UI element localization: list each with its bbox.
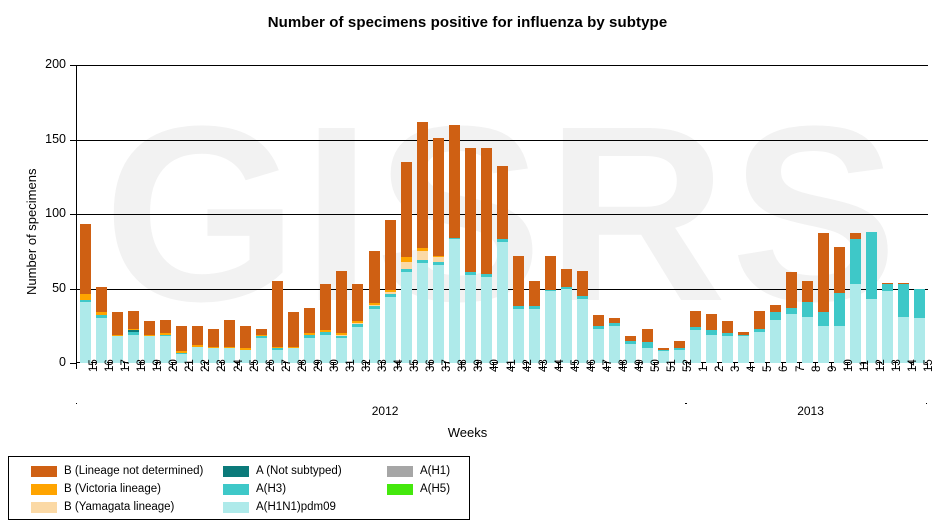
x-tick-label: 38 [457, 359, 469, 372]
bar-segment [385, 220, 396, 290]
bar-column[interactable] [754, 311, 765, 363]
bar-segment [593, 315, 604, 325]
x-tick-label: 15 [88, 359, 100, 372]
bar-segment [160, 320, 171, 333]
bar-segment [240, 326, 251, 348]
bar-segment [545, 256, 556, 290]
legend-item-a-not-subtyped[interactable]: A (Not subtyped) [223, 463, 342, 480]
x-tick-label: 3 [730, 366, 742, 372]
x-tick-label: 1 [698, 366, 710, 372]
legend-label: A(H5) [420, 484, 450, 496]
bar-segment [513, 309, 524, 363]
x-tick-label: 7 [795, 366, 807, 372]
bar-segment [401, 272, 412, 363]
bar-segment [433, 265, 444, 363]
bar-segment [850, 239, 861, 284]
bar-column[interactable] [786, 272, 797, 363]
y-tick-label: 200 [6, 57, 66, 71]
bar-segment [786, 314, 797, 363]
bar-segment [914, 289, 925, 319]
bar-column[interactable] [465, 148, 476, 363]
x-tick-label: 17 [120, 359, 132, 372]
legend-column-a-subtypes: A(H1)A(H5) [387, 463, 450, 499]
bar-column[interactable] [256, 329, 267, 363]
x-tick-label: 43 [538, 359, 550, 372]
bar-segment [96, 318, 107, 363]
bar-column[interactable] [449, 125, 460, 363]
bar-segment [304, 308, 315, 333]
bar-column[interactable] [433, 138, 444, 363]
bar-column[interactable] [706, 314, 717, 363]
y-tick-label: 150 [6, 132, 66, 146]
bar-column[interactable] [304, 308, 315, 363]
bar-column[interactable] [288, 312, 299, 363]
x-tick-label: 19 [152, 359, 164, 372]
bar-segment [802, 317, 813, 363]
legend-swatch-b-victoria-lineage [31, 484, 57, 495]
bar-segment [320, 284, 331, 330]
bar-segment [738, 336, 749, 363]
x-tick-label: 8 [811, 366, 823, 372]
bar-segment [352, 284, 363, 321]
bar-column[interactable] [818, 233, 829, 363]
bar-segment [834, 293, 845, 326]
bar-column[interactable] [240, 326, 251, 363]
bar-segment [561, 289, 572, 364]
bar-segment [770, 305, 781, 312]
y-tick-label: 100 [6, 206, 66, 220]
bar-segment [722, 336, 733, 363]
x-tick-label: 26 [265, 359, 277, 372]
plot-area: GISRS [76, 65, 927, 363]
bar-segment [593, 329, 604, 363]
x-tick-label: 41 [506, 359, 518, 372]
bar-segment [834, 326, 845, 363]
bar-column[interactable] [690, 311, 701, 363]
bar-column[interactable] [642, 329, 653, 363]
x-tick-label: 51 [666, 359, 678, 372]
bar-segment [80, 224, 91, 294]
bar-column[interactable] [738, 332, 749, 363]
bar-segment [352, 327, 363, 363]
bar-segment [144, 321, 155, 334]
bar-column[interactable] [593, 315, 604, 363]
bar-column[interactable] [320, 284, 331, 363]
bar-segment [417, 122, 428, 249]
bar-column[interactable] [369, 251, 380, 363]
bar-segment [770, 320, 781, 363]
x-tick-label: 36 [425, 359, 437, 372]
legend-label: B (Yamagata lineage) [64, 502, 174, 514]
bar-segment [866, 232, 877, 299]
bar-segment [224, 320, 235, 347]
bar-segment [417, 251, 428, 260]
bar-column[interactable] [802, 281, 813, 363]
bar-segment [722, 321, 733, 333]
bar-segment [433, 138, 444, 256]
legend-swatch-a-h3 [223, 484, 249, 495]
bar-segment [770, 312, 781, 319]
bar-segment [192, 326, 203, 345]
x-tick-label: 32 [361, 359, 373, 372]
bar-column[interactable] [192, 326, 203, 363]
x-tick-label: 16 [104, 359, 116, 372]
year-label: 2012 [76, 404, 694, 418]
bar-column[interactable] [609, 318, 620, 363]
bar-segment [128, 311, 139, 329]
x-tick-label: 23 [216, 359, 228, 372]
x-tick-label: 4 [746, 366, 758, 372]
y-tick-label: 50 [6, 281, 66, 295]
x-tick-label: 39 [473, 359, 485, 372]
legend-column-b-types: B (Lineage not determined)B (Victoria li… [31, 463, 203, 517]
x-tick-label: 20 [168, 359, 180, 372]
bar-column[interactable] [722, 321, 733, 363]
bar-column[interactable] [80, 224, 91, 363]
bar-segment [481, 148, 492, 273]
bar-segment [465, 148, 476, 272]
bar-segment [754, 311, 765, 329]
x-tick-label: 24 [233, 359, 245, 372]
bar-segment [882, 291, 893, 363]
bar-segment [369, 251, 380, 303]
legend-label: A (Not subtyped) [256, 466, 342, 478]
bar-segment [449, 125, 460, 238]
bar-column[interactable] [352, 284, 363, 363]
bar-column[interactable] [497, 166, 508, 363]
x-tick-label: 18 [136, 359, 148, 372]
bar-segment [866, 299, 877, 363]
influenza-subtype-chart: Number of specimens positive for influen… [0, 0, 935, 529]
x-tick-label: 44 [554, 359, 566, 372]
bar-column[interactable] [770, 305, 781, 363]
y-axis-title: Number of specimens [24, 169, 39, 295]
x-axis-title: Weeks [0, 425, 935, 440]
x-tick-label: 2 [714, 366, 726, 372]
bar-column[interactable] [417, 122, 428, 363]
x-tick-label: 21 [184, 359, 196, 372]
legend-item-a-h1[interactable]: A(H1) [387, 463, 450, 480]
x-tick-label: 49 [634, 359, 646, 372]
bar-segment [642, 329, 653, 342]
x-tick-label: 22 [200, 359, 212, 372]
bar-segment [385, 297, 396, 363]
bars-layer [77, 65, 928, 363]
bar-segment [882, 284, 893, 291]
legend-item-a-h5[interactable]: A(H5) [387, 481, 450, 498]
bar-segment [834, 247, 845, 293]
bar-segment [545, 291, 556, 363]
bar-segment [914, 318, 925, 363]
bar-segment [80, 302, 91, 363]
bar-segment [898, 317, 909, 363]
bar-column[interactable] [144, 321, 155, 363]
x-tick-label: 25 [249, 359, 261, 372]
bar-segment [690, 330, 701, 363]
legend-item-b-yamagata-lineage[interactable]: B (Yamagata lineage) [31, 499, 203, 516]
x-tick-label: 52 [682, 359, 694, 372]
bar-column[interactable] [898, 283, 909, 363]
bar-segment [497, 242, 508, 363]
bar-segment [112, 312, 123, 334]
x-tick-label: 29 [313, 359, 325, 372]
bar-column[interactable] [336, 271, 347, 363]
bar-segment [417, 263, 428, 363]
x-tick-label: 5 [762, 366, 774, 372]
bar-segment [449, 239, 460, 363]
bar-column[interactable] [96, 287, 107, 363]
x-tick-label: 34 [393, 359, 405, 372]
legend-item-b-victoria-lineage[interactable]: B (Victoria lineage) [31, 481, 203, 498]
legend-item-b-lineage-not-determined[interactable]: B (Lineage not determined) [31, 463, 203, 480]
x-tick-label: 12 [875, 359, 887, 372]
x-tick-label: 9 [827, 366, 839, 372]
bar-column[interactable] [128, 311, 139, 363]
x-tick-mark [76, 363, 77, 369]
legend-label: A(H1N1)pdm09 [256, 502, 336, 514]
bar-segment [818, 326, 829, 363]
bar-segment [336, 271, 347, 334]
x-tick-label: 50 [650, 359, 662, 372]
bar-segment [690, 311, 701, 327]
legend-column-a-types: A (Not subtyped)A(H3)A(H1N1)pdm09 [223, 463, 342, 517]
bar-column[interactable] [385, 220, 396, 363]
x-tick-label: 28 [297, 359, 309, 372]
legend-swatch-a-h1 [387, 466, 413, 477]
bar-segment [96, 287, 107, 312]
x-tick-label: 48 [618, 359, 630, 372]
bar-segment [850, 284, 861, 363]
bar-column[interactable] [401, 162, 412, 363]
x-tick-label: 6 [778, 366, 790, 372]
legend: B (Lineage not determined)B (Victoria li… [8, 456, 470, 520]
bar-column[interactable] [112, 312, 123, 363]
legend-swatch-b-yamagata-lineage [31, 502, 57, 513]
legend-label: B (Victoria lineage) [64, 484, 161, 496]
x-tick-label: 30 [329, 359, 341, 372]
bar-segment [401, 162, 412, 257]
bar-segment [176, 326, 187, 351]
bar-segment [674, 341, 685, 348]
bar-segment [577, 299, 588, 363]
bar-segment [529, 281, 540, 306]
bar-column[interactable] [272, 281, 283, 363]
bar-segment [802, 281, 813, 302]
bar-segment [561, 269, 572, 287]
bar-segment [465, 275, 476, 363]
x-tick-label: 46 [586, 359, 598, 372]
legend-label: B (Lineage not determined) [64, 466, 203, 478]
x-tick-label: 33 [377, 359, 389, 372]
x-tick-label: 10 [843, 359, 855, 372]
x-tick-label: 47 [602, 359, 614, 372]
bar-segment [754, 332, 765, 363]
bar-segment [513, 256, 524, 307]
bar-column[interactable] [882, 283, 893, 363]
legend-item-a-h1n1pdm09[interactable]: A(H1N1)pdm09 [223, 499, 342, 516]
bar-column[interactable] [850, 233, 861, 363]
bar-segment [272, 281, 283, 347]
bar-segment [898, 284, 909, 317]
bar-segment [818, 312, 829, 325]
bar-segment [401, 262, 412, 269]
bar-column[interactable] [176, 326, 187, 363]
x-tick-label: 11 [859, 360, 871, 372]
bar-segment [497, 166, 508, 239]
bar-column[interactable] [866, 232, 877, 363]
page-title: Number of specimens positive for influen… [0, 14, 935, 31]
bar-column[interactable] [834, 247, 845, 363]
x-tick-label: 42 [522, 359, 534, 372]
bar-column[interactable] [513, 256, 524, 363]
bar-column[interactable] [481, 148, 492, 363]
x-tick-label: 14 [907, 359, 919, 372]
bar-segment [706, 335, 717, 363]
legend-swatch-a-not-subtyped [223, 466, 249, 477]
x-tick-label: 13 [891, 359, 903, 372]
x-tick-label: 35 [409, 359, 421, 372]
bar-segment [369, 309, 380, 363]
bar-column[interactable] [224, 320, 235, 363]
x-tick-label: 40 [489, 359, 501, 372]
x-tick-label: 31 [345, 359, 357, 372]
bar-column[interactable] [561, 269, 572, 363]
bar-segment [786, 272, 797, 308]
bar-segment [802, 302, 813, 317]
x-tick-label: 37 [441, 359, 453, 372]
year-label: 2013 [686, 404, 935, 418]
bar-segment [529, 309, 540, 363]
legend-item-a-h3[interactable]: A(H3) [223, 481, 342, 498]
bar-column[interactable] [914, 289, 925, 363]
bar-column[interactable] [577, 271, 588, 363]
legend-swatch-a-h5 [387, 484, 413, 495]
x-tick-label: 27 [281, 359, 293, 372]
bar-column[interactable] [545, 256, 556, 363]
x-tick-label: 15 [923, 359, 935, 372]
bar-segment [208, 329, 219, 347]
bar-segment [577, 271, 588, 296]
legend-label: A(H1) [420, 466, 450, 478]
bar-segment [481, 277, 492, 363]
legend-swatch-a-h1n1pdm09 [223, 502, 249, 513]
bar-column[interactable] [529, 281, 540, 363]
bar-segment [609, 326, 620, 363]
legend-label: A(H3) [256, 484, 286, 496]
x-tick-label: 45 [570, 359, 582, 372]
bar-segment [288, 312, 299, 346]
y-tick-label: 0 [6, 355, 66, 369]
legend-swatch-b-lineage-not-determined [31, 466, 57, 477]
bar-column[interactable] [160, 320, 171, 363]
bar-segment [818, 233, 829, 312]
bar-column[interactable] [208, 329, 219, 363]
bar-segment [706, 314, 717, 330]
